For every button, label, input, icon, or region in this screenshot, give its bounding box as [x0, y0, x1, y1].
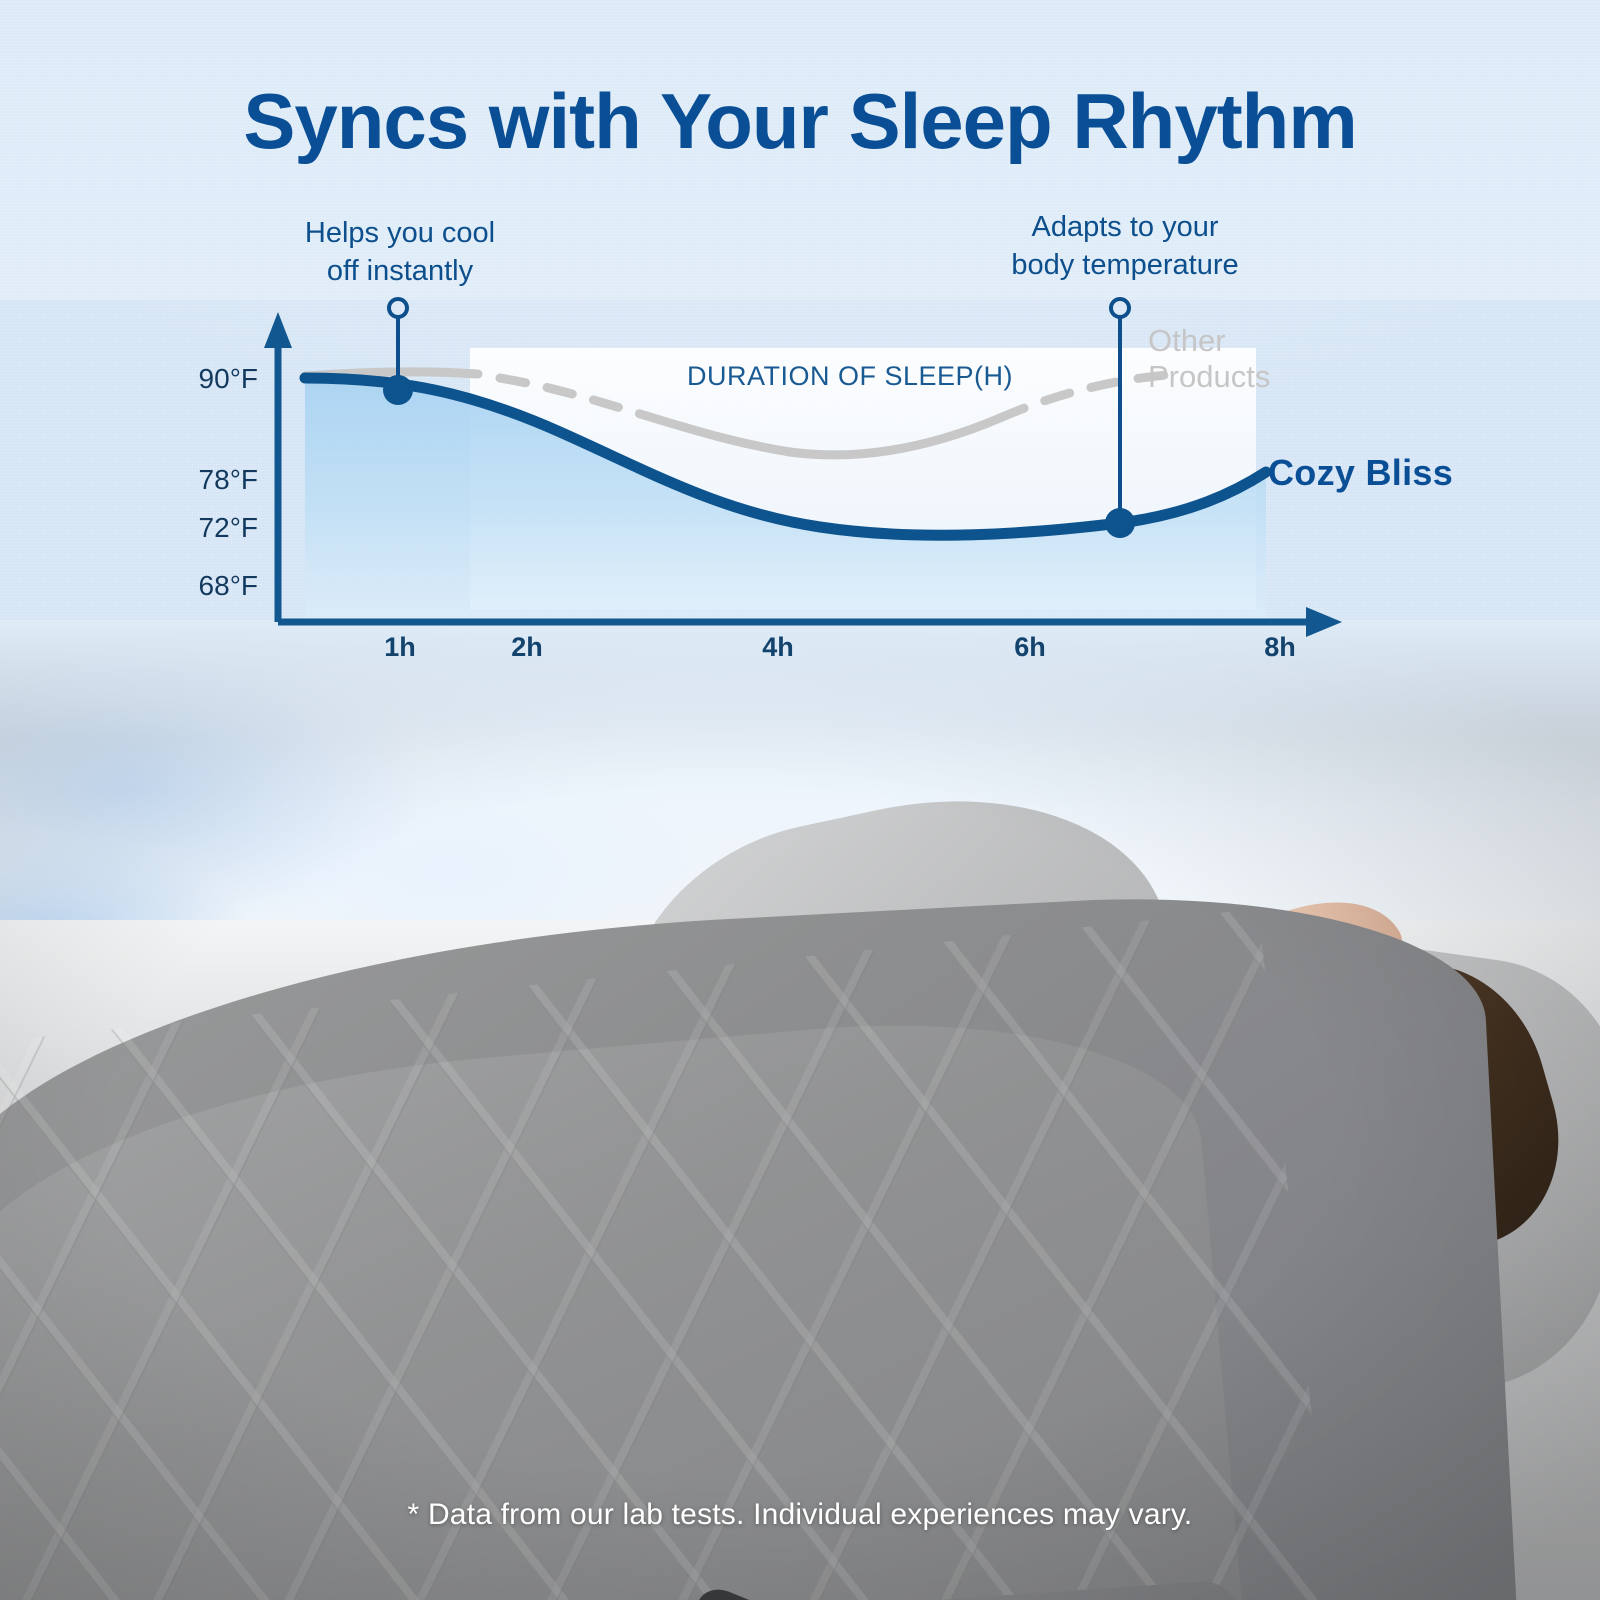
- infographic-canvas: Syncs with Your Sleep Rhythm: [0, 0, 1600, 1600]
- y-axis-label-72f: 72°F: [118, 512, 258, 544]
- annotation-cool-off: Helps you cool off instantly: [280, 214, 520, 291]
- annotation-adapts: Adapts to your body temperature: [960, 208, 1290, 285]
- temperature-chart: Helps you cool off instantly Adapts to y…: [0, 0, 1600, 700]
- data-point-marker-left[interactable]: [383, 375, 413, 405]
- chart-axis-title: DURATION OF SLEEP(H): [660, 361, 1040, 392]
- y-axis-label-78f: 78°F: [118, 464, 258, 496]
- y-axis-arrow: [264, 312, 292, 348]
- x-axis-label-1h: 1h: [360, 632, 440, 663]
- legend-other-products: Other Products: [1148, 323, 1368, 396]
- x-axis-label-6h: 6h: [990, 632, 1070, 663]
- disclaimer-note: * Data from our lab tests. Individual ex…: [0, 1498, 1600, 1532]
- data-point-marker-right[interactable]: [1105, 508, 1135, 538]
- marker-pin-head-left[interactable]: [389, 299, 407, 317]
- legend-cozy-bliss: Cozy Bliss: [1268, 452, 1453, 494]
- x-axis-label-8h: 8h: [1240, 632, 1320, 663]
- legend-other-products-line1: Other: [1148, 323, 1368, 359]
- legend-other-products-line2: Products: [1148, 359, 1368, 395]
- marker-pin-head-right[interactable]: [1111, 299, 1129, 317]
- annotation-cool-off-line1: Helps you cool: [280, 214, 520, 252]
- photo-vignette: [0, 620, 1600, 1600]
- annotation-cool-off-line2: off instantly: [280, 252, 520, 290]
- x-axis-label-2h: 2h: [487, 632, 567, 663]
- annotation-adapts-line1: Adapts to your: [960, 208, 1290, 246]
- y-axis-label-90f: 90°F: [118, 363, 258, 395]
- y-axis-label-68f: 68°F: [118, 570, 258, 602]
- x-axis-label-4h: 4h: [738, 632, 818, 663]
- lifestyle-photo: [0, 620, 1600, 1600]
- annotation-adapts-line2: body temperature: [960, 246, 1290, 284]
